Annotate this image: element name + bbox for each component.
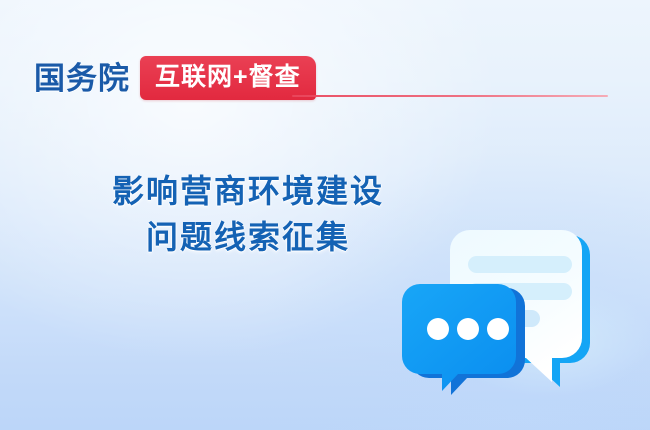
big-bubble-text-bar-1: [468, 256, 572, 273]
typing-dot-3: [487, 318, 509, 340]
chat-bubbles-illustration: [398, 198, 650, 404]
organization-title: 国务院: [34, 63, 130, 94]
typing-dot-1: [427, 318, 449, 340]
program-badge: 互联网+督查: [140, 56, 316, 100]
header-divider-line: [292, 95, 608, 97]
page-title-line-2: 问题线索征集: [88, 214, 408, 260]
typing-dot-2: [457, 318, 479, 340]
banner-root: 国务院 互联网+督查 影响营商环境建设 问题线索征集: [0, 0, 650, 430]
page-title: 影响营商环境建设 问题线索征集: [88, 168, 408, 260]
page-title-line-1: 影响营商环境建设: [88, 168, 408, 214]
header-row: 国务院 互联网+督查: [34, 56, 316, 100]
